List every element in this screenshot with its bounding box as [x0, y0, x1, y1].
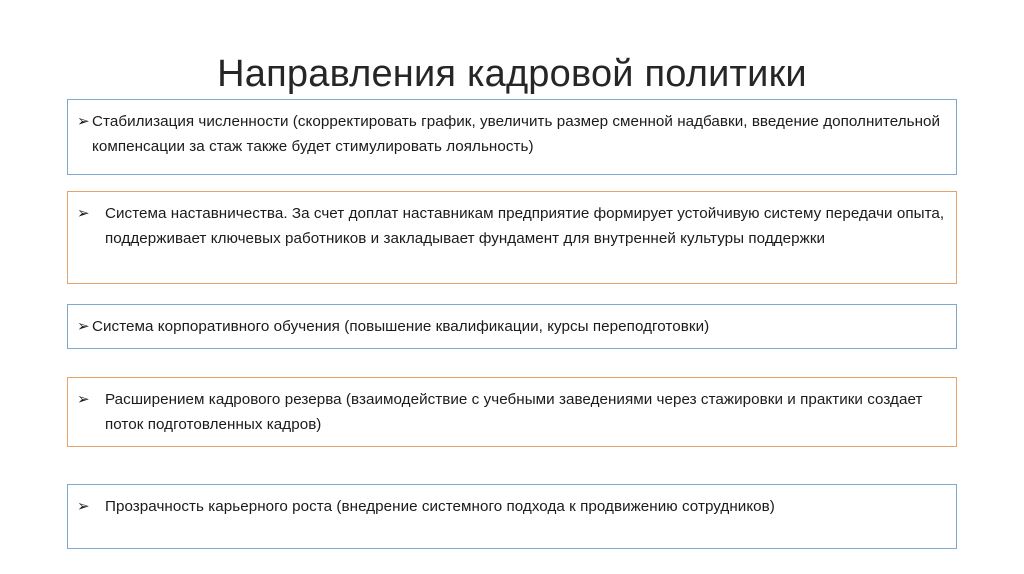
bullet-box-3[interactable]: ➢ Система корпоративного обучения (повыш… [67, 304, 957, 349]
bullet-box-4-text: Расширением кадрового резерва (взаимодей… [105, 387, 946, 437]
spacer-1 [67, 175, 957, 191]
bullet-box-3-text: Система корпоративного обучения (повышен… [92, 314, 946, 339]
arrow-bullet-icon: ➢ [77, 109, 92, 134]
bullet-box-1-text: Стабилизация численности (скорректироват… [92, 109, 946, 159]
bullet-box-list: ➢ Стабилизация численности (скорректиров… [67, 99, 957, 549]
spacer-4 [67, 447, 957, 484]
bullet-box-1[interactable]: ➢ Стабилизация численности (скорректиров… [67, 99, 957, 175]
arrow-bullet-icon: ➢ [77, 314, 92, 339]
bullet-box-2-text: Система наставничества. За счет доплат н… [105, 201, 946, 251]
spacer-3 [67, 349, 957, 377]
bullet-box-5-text: Прозрачность карьерного роста (внедрение… [105, 494, 946, 519]
bullet-box-4[interactable]: ➢ Расширением кадрового резерва (взаимод… [67, 377, 957, 447]
bullet-box-2[interactable]: ➢ Система наставничества. За счет доплат… [67, 191, 957, 284]
arrow-bullet-icon: ➢ [77, 201, 105, 226]
arrow-bullet-icon: ➢ [77, 387, 105, 412]
spacer-2 [67, 284, 957, 304]
arrow-bullet-icon: ➢ [77, 494, 105, 519]
slide-canvas: Направления кадровой политики ➢ Стабилиз… [0, 0, 1024, 574]
bullet-box-5[interactable]: ➢ Прозрачность карьерного роста (внедрен… [67, 484, 957, 549]
page-title: Направления кадровой политики [0, 51, 1024, 97]
